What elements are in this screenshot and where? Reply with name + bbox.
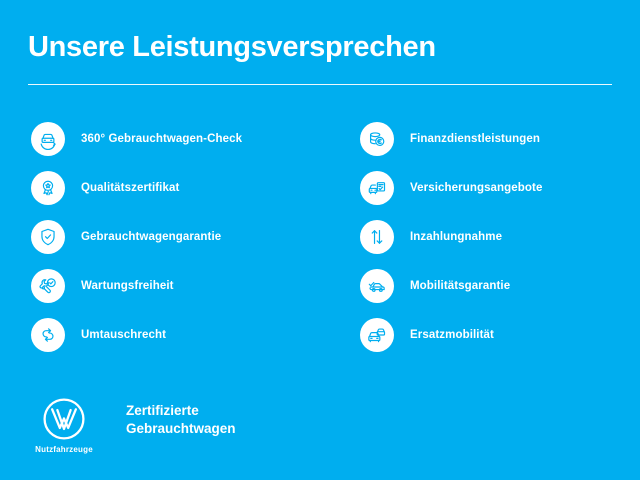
benefit-item: Ersatzmobilität (360, 318, 630, 352)
logo-wordmark: Nutzfahrzeuge (35, 445, 93, 454)
benefit-item: Wartungsfreiheit (31, 269, 331, 303)
quality-seal-rosette-icon (31, 171, 65, 205)
benefit-label: Versicherungsangebote (410, 182, 542, 194)
benefit-item: Versicherungsangebote (360, 171, 630, 205)
footer-text: Zertifizierte Gebrauchtwagen (126, 402, 236, 437)
benefit-label: Umtauschrecht (81, 329, 166, 341)
benefit-item: 360° Gebrauchtwagen-Check (31, 122, 331, 156)
benefit-label: Gebrauchtwagengarantie (81, 231, 221, 243)
volkswagen-logo-block: Nutzfahrzeuge (28, 396, 100, 454)
two-cars-icon (360, 318, 394, 352)
benefit-item: Umtauschrecht (31, 318, 331, 352)
exchange-arrows-icon (31, 318, 65, 352)
shield-check-icon (31, 220, 65, 254)
benefit-label: Qualitätszertifikat (81, 182, 179, 194)
title-divider (28, 84, 612, 85)
car-360-check-icon (31, 122, 65, 156)
car-document-check-icon (360, 171, 394, 205)
car-check-icon (360, 269, 394, 303)
benefit-label: Wartungsfreiheit (81, 280, 174, 292)
footer-branding: Nutzfahrzeuge Zertifizierte Gebrauchtwag… (28, 396, 236, 454)
volkswagen-logo (41, 396, 87, 442)
benefit-item: Gebrauchtwagengarantie (31, 220, 331, 254)
benefits-column-right: Finanzdienstleistungen Versicherungsange… (360, 122, 630, 367)
benefit-item: Qualitätszertifikat (31, 171, 331, 205)
benefit-label: Ersatzmobilität (410, 329, 494, 341)
up-down-arrows-icon (360, 220, 394, 254)
benefit-label: 360° Gebrauchtwagen-Check (81, 133, 242, 145)
benefit-label: Mobilitätsgarantie (410, 280, 510, 292)
benefit-label: Finanzdienstleistungen (410, 133, 540, 145)
benefit-label: Inzahlungnahme (410, 231, 502, 243)
benefit-item: Inzahlungnahme (360, 220, 630, 254)
footer-line-2: Gebrauchtwagen (126, 420, 236, 438)
coins-euro-icon (360, 122, 394, 156)
slide-root: Unsere Leistungsversprechen 360° Gebrauc… (0, 0, 640, 480)
benefits-column-left: 360° Gebrauchtwagen-Check Qualitätszerti… (31, 122, 331, 367)
wrench-check-icon (31, 269, 65, 303)
page-title: Unsere Leistungsversprechen (28, 32, 436, 64)
benefit-item: Mobilitätsgarantie (360, 269, 630, 303)
benefit-item: Finanzdienstleistungen (360, 122, 630, 156)
footer-line-1: Zertifizierte (126, 402, 236, 420)
